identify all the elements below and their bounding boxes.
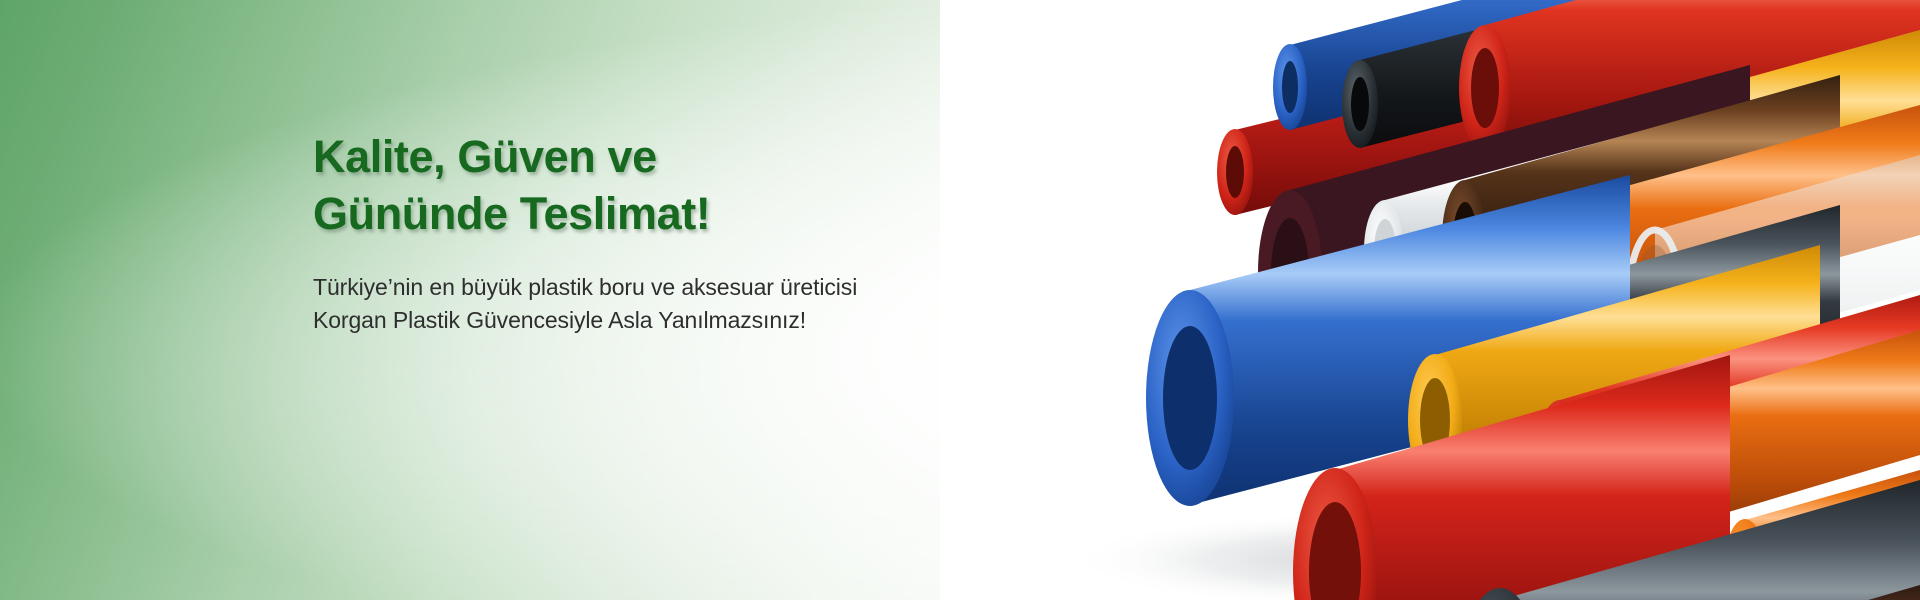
hero-text-block: Kalite, Güven ve Gününde Teslimat! Türki… <box>313 128 973 337</box>
stacked-plastic-pipes-photo <box>940 0 1920 600</box>
page-title: Kalite, Güven ve Gününde Teslimat! <box>313 128 973 242</box>
hero-banner: Kalite, Güven ve Gününde Teslimat! Türki… <box>0 0 1920 600</box>
headline-line-2: Gününde Teslimat! <box>313 185 973 242</box>
subtitle-line-2: Korgan Plastik Güvencesiyle Asla Yanılma… <box>313 304 973 337</box>
headline-line-1: Kalite, Güven ve <box>313 128 973 185</box>
pipes-illustration <box>940 0 1920 600</box>
subtitle-line-1: Türkiye’nin en büyük plastik boru ve aks… <box>313 271 973 304</box>
hero-subtitle: Türkiye’nin en büyük plastik boru ve aks… <box>313 271 973 337</box>
